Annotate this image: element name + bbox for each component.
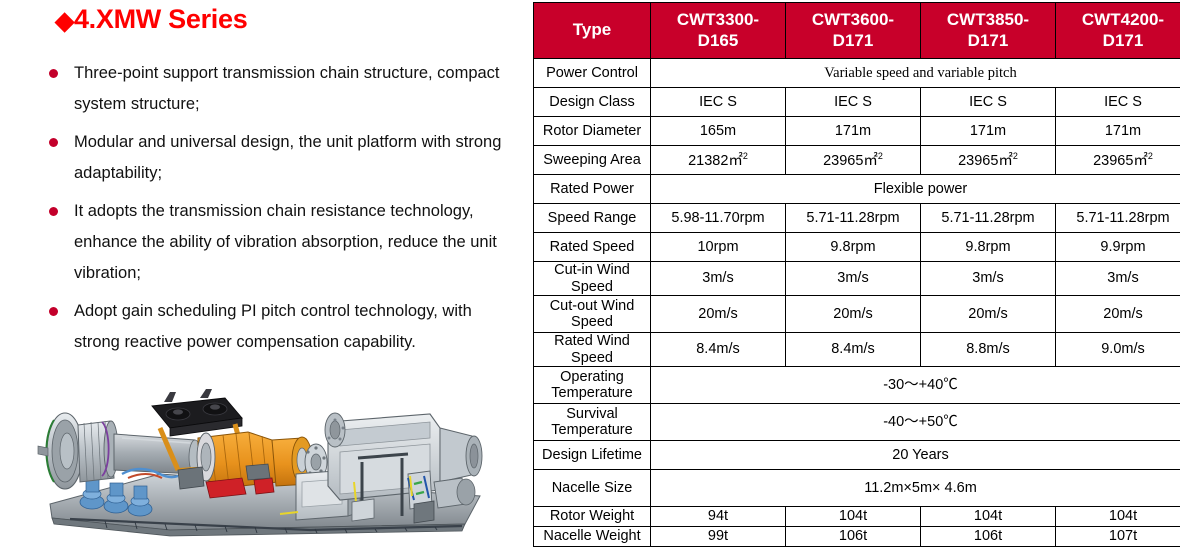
value-cell: 3m/s: [651, 262, 786, 296]
row-label-cell: Design Class: [534, 88, 651, 117]
value-cell: 9.0m/s: [1056, 333, 1180, 367]
feature-bullet-item: Three-point support transmission chain s…: [44, 58, 514, 120]
row-label-cell: Power Control: [534, 59, 651, 88]
value-cell: 3m/s: [1056, 262, 1180, 296]
table-row: Speed Range5.98-11.70rpm5.71-11.28rpm5.7…: [534, 204, 1180, 233]
table-body: Power ControlVariable speed and variable…: [534, 59, 1180, 547]
value-cell: 23965㎡2: [1056, 146, 1180, 175]
feature-bullet-item: Modular and universal design, the unit p…: [44, 127, 514, 189]
value-cell: 5.98-11.70rpm: [651, 204, 786, 233]
table-row: Nacelle Weight99t106t106t107t: [534, 527, 1180, 547]
specifications-table: Type CWT3300-D165 CWT3600-D171 CWT3850-D…: [533, 2, 1180, 547]
bullet-dot-icon: [49, 307, 58, 316]
specifications-table-container: Type CWT3300-D165 CWT3600-D171 CWT3850-D…: [533, 2, 1167, 547]
value-cell: 20m/s: [651, 296, 786, 333]
merged-value-cell: Variable speed and variable pitch: [651, 59, 1180, 88]
column-header-type: Type: [534, 3, 651, 59]
row-label-cell: Design Lifetime: [534, 441, 651, 470]
row-label-cell: Nacelle Size: [534, 470, 651, 507]
bullet-dot-icon: [49, 69, 58, 78]
value-cell: 171m: [921, 117, 1056, 146]
table-row: Survival Temperature-40～+50℃: [534, 404, 1180, 441]
row-label-cell: Nacelle Weight: [534, 527, 651, 547]
row-label-cell: Survival Temperature: [534, 404, 651, 441]
table-row: Nacelle Size11.2m×5m× 4.6m: [534, 470, 1180, 507]
table-row: Rated PowerFlexible power: [534, 175, 1180, 204]
table-row: Cut-in Wind Speed3m/s3m/s3m/s3m/s: [534, 262, 1180, 296]
value-cell: 9.8rpm: [921, 233, 1056, 262]
value-cell: 171m: [1056, 117, 1180, 146]
table-row: Rated Wind Speed8.4m/s8.4m/s8.8m/s9.0m/s: [534, 333, 1180, 367]
value-cell: 104t: [786, 507, 921, 527]
feature-bullet-text: It adopts the transmission chain resista…: [74, 202, 497, 282]
value-cell: 5.71-11.28rpm: [921, 204, 1056, 233]
merged-value-cell: 20 Years: [651, 441, 1180, 470]
value-cell: 20m/s: [1056, 296, 1180, 333]
feature-bullet-item: Adopt gain scheduling PI pitch control t…: [44, 296, 514, 358]
value-cell: 107t: [1056, 527, 1180, 547]
table-row: Rotor Diameter165m171m171m171m: [534, 117, 1180, 146]
value-cell: 3m/s: [921, 262, 1056, 296]
value-cell: 21382㎡2: [651, 146, 786, 175]
value-cell: IEC S: [921, 88, 1056, 117]
row-label-cell: Rotor Diameter: [534, 117, 651, 146]
table-row: Cut-out Wind Speed20m/s20m/s20m/s20m/s: [534, 296, 1180, 333]
value-cell: 94t: [651, 507, 786, 527]
value-cell: 8.8m/s: [921, 333, 1056, 367]
merged-value-cell: 11.2m×5m× 4.6m: [651, 470, 1180, 507]
table-row: Rotor Weight94t104t104t104t: [534, 507, 1180, 527]
row-label-cell: Rated Speed: [534, 233, 651, 262]
value-cell: 8.4m/s: [651, 333, 786, 367]
column-header-model-4: CWT4200-D171: [1056, 3, 1180, 59]
diamond-bullet-icon: ◆: [55, 7, 74, 35]
row-label-cell: Rated Wind Speed: [534, 333, 651, 367]
value-cell: 106t: [786, 527, 921, 547]
value-cell: 171m: [786, 117, 921, 146]
feature-bullet-text: Three-point support transmission chain s…: [74, 64, 500, 113]
bullet-dot-icon: [49, 207, 58, 216]
row-label-cell: Rated Power: [534, 175, 651, 204]
merged-value-cell: -30～+40℃: [651, 367, 1180, 404]
row-label-cell: Operating Temperature: [534, 367, 651, 404]
value-cell: 20m/s: [786, 296, 921, 333]
row-label-cell: Rotor Weight: [534, 507, 651, 527]
row-label-cell: Sweeping Area: [534, 146, 651, 175]
table-row: Power ControlVariable speed and variable…: [534, 59, 1180, 88]
feature-bullet-text: Modular and universal design, the unit p…: [74, 133, 501, 182]
table-header-row: Type CWT3300-D165 CWT3600-D171 CWT3850-D…: [534, 3, 1180, 59]
value-cell: 104t: [921, 507, 1056, 527]
table-row: Design ClassIEC SIEC SIEC SIEC S: [534, 88, 1180, 117]
value-cell: 23965㎡2: [921, 146, 1056, 175]
row-label-cell: Speed Range: [534, 204, 651, 233]
value-cell: 5.71-11.28rpm: [1056, 204, 1180, 233]
value-cell: 10rpm: [651, 233, 786, 262]
table-row: Sweeping Area21382㎡223965㎡223965㎡223965㎡…: [534, 146, 1180, 175]
wind-turbine-nacelle-drivetrain-cad-render: [10, 378, 510, 543]
row-label-cell: Cut-in Wind Speed: [534, 262, 651, 296]
value-cell: 5.71-11.28rpm: [786, 204, 921, 233]
feature-bullet-item: It adopts the transmission chain resista…: [44, 196, 514, 289]
value-cell: 8.4m/s: [786, 333, 921, 367]
column-header-model-2: CWT3600-D171: [786, 3, 921, 59]
value-cell: 99t: [651, 527, 786, 547]
value-cell: 165m: [651, 117, 786, 146]
page-title: ◆4.XMW Series: [55, 4, 247, 35]
table-row: Rated Speed10rpm9.8rpm9.8rpm9.9rpm: [534, 233, 1180, 262]
value-cell: IEC S: [786, 88, 921, 117]
table-header: Type CWT3300-D165 CWT3600-D171 CWT3850-D…: [534, 3, 1180, 59]
value-cell: 3m/s: [786, 262, 921, 296]
value-cell: 23965㎡2: [786, 146, 921, 175]
value-cell: 106t: [921, 527, 1056, 547]
value-cell: 104t: [1056, 507, 1180, 527]
page-title-text: 4.XMW Series: [74, 4, 247, 34]
value-cell: IEC S: [1056, 88, 1180, 117]
feature-bullet-text: Adopt gain scheduling PI pitch control t…: [74, 302, 472, 351]
value-cell: IEC S: [651, 88, 786, 117]
merged-value-cell: Flexible power: [651, 175, 1180, 204]
left-content-panel: ◆4.XMW Series Three-point support transm…: [0, 0, 525, 548]
value-cell: 9.8rpm: [786, 233, 921, 262]
value-cell: 9.9rpm: [1056, 233, 1180, 262]
column-header-model-3: CWT3850-D171: [921, 3, 1056, 59]
merged-value-cell: -40～+50℃: [651, 404, 1180, 441]
column-header-model-1: CWT3300-D165: [651, 3, 786, 59]
table-row: Operating Temperature-30～+40℃: [534, 367, 1180, 404]
feature-bullet-list: Three-point support transmission chain s…: [44, 58, 514, 365]
bullet-dot-icon: [49, 138, 58, 147]
row-label-cell: Cut-out Wind Speed: [534, 296, 651, 333]
table-row: Design Lifetime20 Years: [534, 441, 1180, 470]
value-cell: 20m/s: [921, 296, 1056, 333]
